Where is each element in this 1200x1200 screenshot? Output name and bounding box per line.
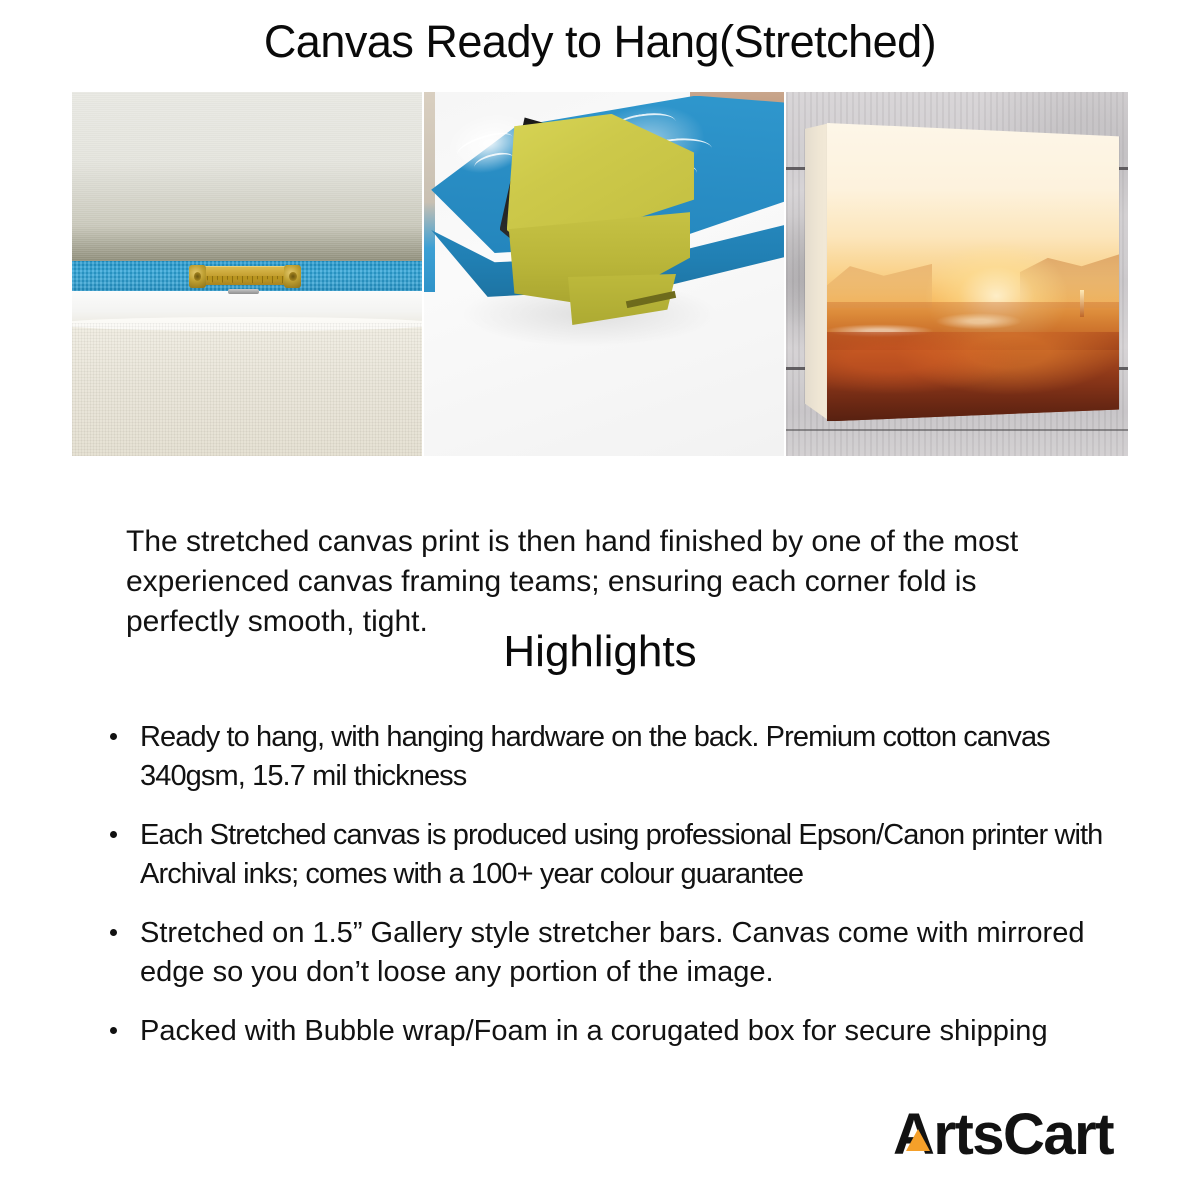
list-item: Each Stretched canvas is produced using … <box>104 816 1114 894</box>
list-item: Stretched on 1.5” Gallery style stretche… <box>104 914 1114 992</box>
product-image-gallery <box>72 92 1128 456</box>
bullet-dot-icon <box>110 733 117 740</box>
bullet-dot-icon <box>110 1027 117 1034</box>
triangle-icon <box>906 1129 930 1151</box>
landscape-foreground <box>827 332 1120 422</box>
hanger-screw-left <box>189 265 206 288</box>
brand-logo: ArtsCart <box>893 1104 1143 1166</box>
gallery-image-canvas-on-wall <box>786 92 1128 456</box>
list-item-label: Each Stretched canvas is produced using … <box>140 819 1102 890</box>
bullet-dot-icon <box>110 831 117 838</box>
bullet-dot-icon <box>110 929 117 936</box>
list-item: Packed with Bubble wrap/Foam in a coruga… <box>104 1012 1114 1051</box>
wall-background <box>72 92 422 263</box>
intro-paragraph: The stretched canvas print is then hand … <box>126 522 1086 642</box>
list-item-label: Packed with Bubble wrap/Foam in a coruga… <box>140 1015 1048 1047</box>
gallery-image-canvas-back-hanger <box>72 92 422 456</box>
highlights-list: Ready to hang, with hanging hardware on … <box>104 718 1114 1071</box>
canvas-wrapped-edge <box>805 123 830 421</box>
adjacent-canvas-sliver <box>424 92 435 292</box>
list-item-label: Stretched on 1.5” Gallery style stretche… <box>140 917 1084 988</box>
highlights-heading: Highlights <box>0 626 1200 678</box>
landscape-spire <box>1080 290 1084 317</box>
hanger-clip <box>228 289 260 294</box>
landscape-hill-left <box>827 254 932 308</box>
gallery-image-canvas-corner-fold <box>424 92 784 456</box>
page-title: Canvas Ready to Hang(Stretched) <box>0 16 1200 68</box>
plank-seam <box>786 429 1128 431</box>
hanger-bar <box>200 266 290 285</box>
canvas-printed-face <box>827 123 1120 421</box>
list-item-label: Ready to hang, with hanging hardware on … <box>140 721 1050 792</box>
hanging-canvas <box>805 123 1120 421</box>
hanger-screw-right <box>284 265 301 288</box>
canvas-back-surface <box>72 323 422 456</box>
sawtooth-hanger-icon <box>189 264 301 289</box>
list-item: Ready to hang, with hanging hardware on … <box>104 718 1114 796</box>
